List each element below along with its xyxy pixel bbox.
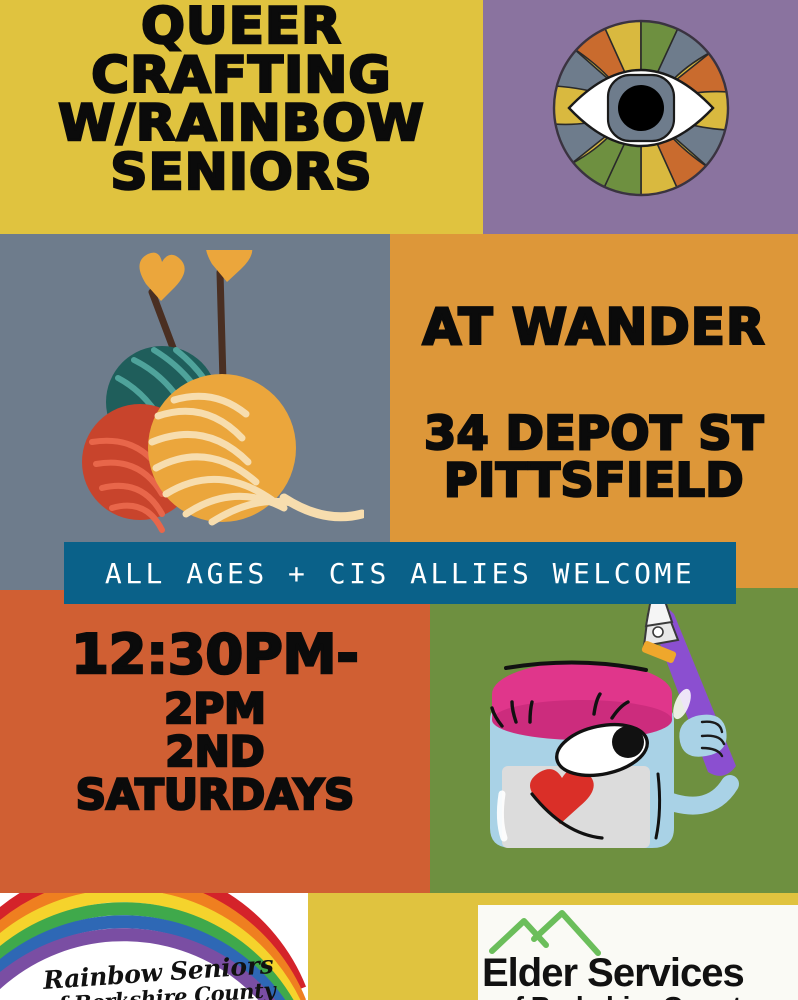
rainbow-eye-icon	[551, 18, 731, 198]
page-title: QUEER CRAFTING W/RAINBOW SENIORS	[0, 2, 490, 196]
heart-needle-top-right	[206, 250, 253, 282]
title-block: QUEER CRAFTING W/RAINBOW SENIORS	[0, 0, 483, 234]
logo-band: Rainbow Seniors of Berkshire County Elde…	[0, 893, 798, 1000]
yarn-strand	[284, 498, 362, 517]
yarn-block	[0, 234, 390, 590]
elder-services-subtitle: of Berkshire County Inc.	[498, 993, 798, 1000]
welcome-banner: ALL AGES + CIS ALLIES WELCOME	[64, 542, 736, 604]
rainbow-seniors-logo: Rainbow Seniors of Berkshire County	[0, 893, 308, 1000]
jar-block	[430, 588, 798, 893]
welcome-banner-text: ALL AGES + CIS ALLIES WELCOME	[105, 557, 695, 590]
time-block: 12:30PM- 2PM 2ND SATURDAYS	[0, 590, 430, 893]
eye-pupil	[618, 85, 664, 131]
event-time: 12:30PM- 2PM 2ND SATURDAYS	[0, 628, 430, 816]
ink-jar-character-icon	[444, 598, 790, 888]
elder-services-name: Elder Services	[482, 953, 744, 993]
yarn-balls-icon	[34, 250, 364, 570]
venue-name: AT WANDER	[390, 302, 798, 352]
event-time-rest: 2PM 2ND SATURDAYS	[0, 688, 430, 816]
event-time-main: 12:30PM-	[0, 628, 430, 682]
venue-address: 34 DEPOT ST PITTSFIELD	[390, 410, 798, 505]
elder-services-logo: Elder Services of Berkshire County Inc.	[478, 905, 798, 1000]
venue-block: AT WANDER 34 DEPOT ST PITTSFIELD	[390, 234, 798, 588]
heart-needle-top-left	[139, 253, 184, 301]
mountain-icon	[486, 909, 646, 957]
poster: QUEER CRAFTING W/RAINBOW SENIORS	[0, 0, 798, 1000]
eye-block	[483, 0, 798, 234]
jar-hand	[679, 715, 726, 757]
